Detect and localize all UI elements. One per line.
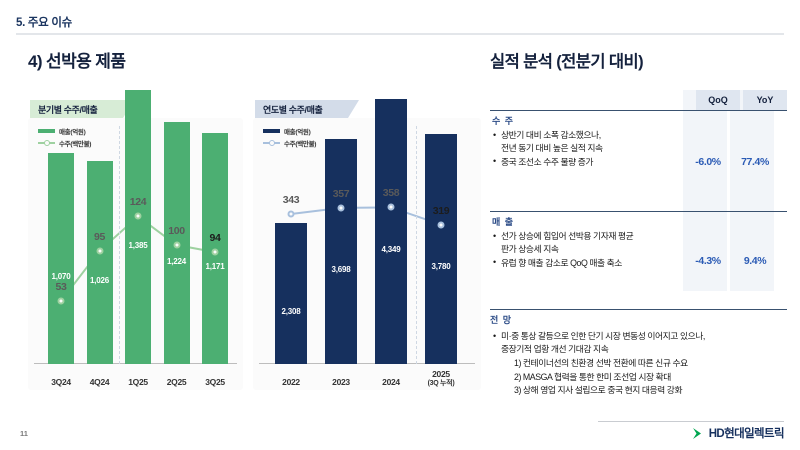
line-value-label: 53 — [55, 281, 66, 293]
section-heading: 5. 주요 이슈 — [16, 14, 72, 30]
chart-line-marker — [288, 211, 295, 218]
bar-value-label: 3,698 — [331, 265, 350, 274]
x-axis-tick-label: 1Q25 — [128, 378, 148, 388]
chart-line-marker — [388, 204, 395, 211]
value-qoq-revenue: -4.3% — [686, 212, 730, 310]
group-category-label: 매 출 — [492, 215, 514, 228]
chart-period-divider — [416, 126, 417, 364]
sub-item: 3) 상해 영업 지사 설립으로 중국 현지 대응력 강화 — [514, 384, 787, 397]
chart-annual-plot-area: 2,30820223,69820234,34920243,7802025(3Q … — [253, 118, 481, 390]
outlook-bullets: 미·중 통상 갈등으로 인한 단기 시장 변동성 이어지고 있으나,중장기적 업… — [490, 330, 787, 356]
analysis-group-outlook: 전 망 미·중 통상 갈등으로 인한 단기 시장 변동성 이어지고 있으나,중장… — [490, 309, 787, 397]
chart-quarterly-plot-area: 1,0703Q241,0264Q241,3851Q251,2242Q251,17… — [28, 118, 243, 390]
line-value-label: 357 — [333, 188, 350, 200]
bullet-item: 선가 상승에 힘입어 선박용 기자재 평균판가 상승세 지속 — [493, 230, 679, 256]
x-axis-tick-label: 2023 — [332, 378, 350, 388]
page-number: 11 — [20, 429, 28, 438]
bar-value-label: 1,171 — [205, 262, 224, 271]
group-bullets-orders: 상반기 대비 소폭 감소했으나,전년 동기 대비 높은 실적 지속 중국 조선소… — [490, 111, 683, 212]
slide: 5. 주요 이슈 4) 선박용 제품 실적 분석 (전분기 대비) 분기별 수주… — [0, 0, 800, 450]
bar-value-label: 2,308 — [281, 307, 300, 316]
chart-bar: 2,308 — [275, 223, 307, 364]
tab-annual-chart: 연도별 수주/매출 — [255, 100, 359, 118]
line-value-label: 358 — [383, 187, 400, 199]
x-axis-tick-label: 2024 — [382, 378, 400, 388]
x-axis-tick-label: 2022 — [282, 378, 300, 388]
column-header-yoy: YoY — [743, 90, 787, 110]
bullet-item: 상반기 대비 소폭 감소했으나,전년 동기 대비 높은 실적 지속 — [493, 129, 679, 155]
bar-value-label: 1,026 — [90, 276, 109, 285]
x-axis-tick-label: 3Q24 — [51, 378, 71, 388]
chart-line-marker — [212, 249, 219, 256]
line-value-label: 94 — [209, 232, 220, 244]
value-yoy-revenue: 9.4% — [733, 212, 777, 310]
outlook-sub-items: 1) 컨테이너선의 친환경 선박 전환에 따른 신규 수요 2) MASGA 협… — [490, 357, 787, 397]
bar-value-label: 1,224 — [167, 257, 186, 266]
chart-bar: 1,070 — [48, 153, 74, 364]
outlook-category-label: 전 망 — [490, 313, 787, 326]
chart-bar: 3,780 — [425, 134, 457, 364]
bar-value-label: 4,349 — [381, 245, 400, 254]
bullet-item: 유럽 향 매출 감소로 QoQ 매출 축소 — [493, 257, 679, 270]
line-value-label: 100 — [168, 225, 185, 237]
line-value-label: 95 — [94, 231, 105, 243]
line-value-label: 343 — [283, 194, 300, 206]
page-title: 4) 선박용 제품 — [28, 47, 125, 72]
chart-bar: 4,349 — [375, 99, 407, 364]
chart-bar: 1,026 — [87, 161, 113, 364]
company-logo: HD현대일렉트릭 — [692, 425, 784, 441]
analysis-panel-title: 실적 분석 (전분기 대비) — [490, 48, 643, 72]
bar-value-label: 1,070 — [51, 272, 70, 281]
group-category-label: 수 주 — [492, 114, 514, 127]
header-spacer — [490, 90, 693, 110]
line-value-label: 319 — [433, 205, 450, 217]
sub-item: 1) 컨테이너선의 친환경 선박 전환에 따른 신규 수요 — [514, 357, 787, 370]
footer-divider — [598, 421, 784, 422]
sub-item: 2) MASGA 협력을 통한 한미 조선업 시장 확대 — [514, 371, 787, 384]
logo-text: HD현대일렉트릭 — [709, 425, 784, 441]
chart-line-marker — [96, 247, 103, 254]
chart-annual-orders-revenue: 매출(억원) 수주(백만불) 2,30820223,69820234,34920… — [253, 118, 481, 390]
x-axis-tick-label: 2Q25 — [167, 378, 187, 388]
bar-value-label: 3,780 — [431, 262, 450, 271]
value-qoq-orders: -6.0% — [686, 111, 730, 212]
tab-quarterly-chart: 분기별 수주/매출 — [30, 100, 134, 118]
analysis-group-orders: 수 주 상반기 대비 소폭 감소했으나,전년 동기 대비 높은 실적 지속 중국… — [490, 110, 787, 211]
column-header-qoq: QoQ — [696, 90, 740, 110]
chart-period-divider — [119, 126, 120, 364]
chart-line-marker — [173, 242, 180, 249]
x-axis-tick-label: 4Q24 — [90, 378, 110, 388]
bar-value-label: 1,385 — [128, 241, 147, 250]
analysis-table-header: QoQ YoY — [490, 90, 787, 110]
chart-line-marker — [438, 221, 445, 228]
header-divider — [16, 33, 784, 35]
group-bullets-revenue: 선가 상승에 힘입어 선박용 기자재 평균판가 상승세 지속 유럽 향 매출 감… — [490, 212, 683, 310]
chart-line-marker — [135, 213, 142, 220]
analysis-table: QoQ YoY 수 주 상반기 대비 소폭 감소했으나,전년 동기 대비 높은 … — [490, 90, 787, 397]
analysis-group-revenue: 매 출 선가 상승에 힘입어 선박용 기자재 평균판가 상승세 지속 유럽 향 … — [490, 211, 787, 309]
chart-bar: 3,698 — [325, 139, 357, 364]
value-yoy-orders: 77.4% — [733, 111, 777, 212]
chart-line-marker — [58, 297, 65, 304]
line-value-label: 124 — [130, 196, 147, 208]
chart-bar: 1,385 — [125, 90, 151, 364]
bullet-item: 중국 조선소 수주 물량 증가 — [493, 156, 679, 169]
chart-quarterly-orders-revenue: 매출(억원) 수주(백만불) 1,0703Q241,0264Q241,3851Q… — [28, 118, 243, 390]
bullet-item: 미·중 통상 갈등으로 인한 단기 시장 변동성 이어지고 있으나,중장기적 업… — [493, 330, 787, 356]
chevron-right-icon — [692, 427, 706, 440]
x-axis-tick-label: 2025(3Q 누적) — [428, 370, 455, 388]
x-axis-tick-label: 3Q25 — [205, 378, 225, 388]
chart-line-marker — [338, 204, 345, 211]
